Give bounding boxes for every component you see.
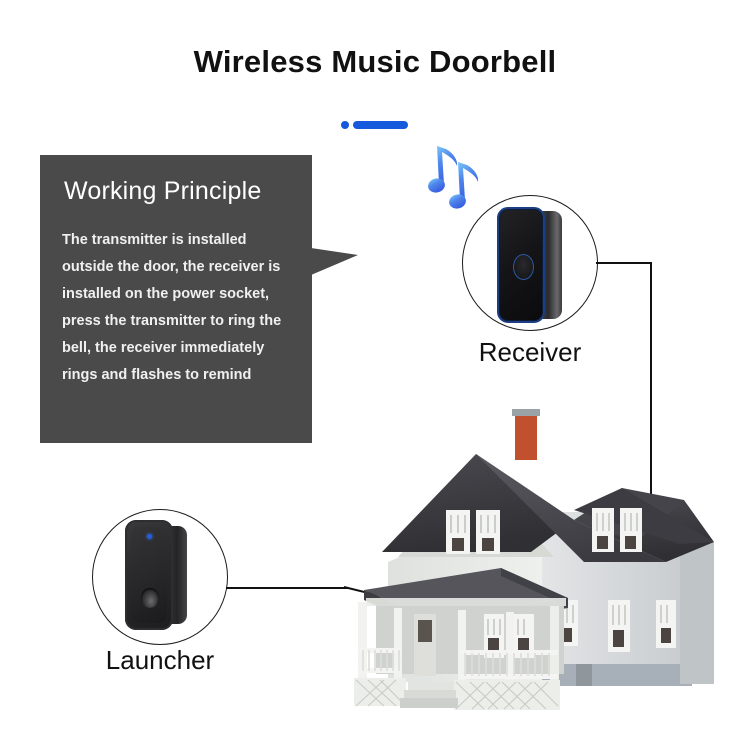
- callout-pointer-tail: [311, 248, 358, 275]
- launcher-button-icon: [141, 588, 159, 608]
- receiver-button-icon: [513, 254, 534, 280]
- callout-heading: Working Principle: [64, 177, 261, 206]
- page-title: Wireless Music Doorbell: [0, 44, 750, 80]
- receiver-leader-line-horizontal: [596, 262, 652, 264]
- receiver-device-image: [489, 207, 574, 322]
- house-illustration: [336, 392, 714, 714]
- signal-dash-icon: [353, 121, 408, 129]
- launcher-device-front: [125, 520, 173, 630]
- launcher-leader-line-horizontal: [226, 587, 348, 589]
- music-notes-icon: [428, 140, 490, 210]
- infographic-canvas: Wireless Music Doorbell Working Principl…: [0, 0, 750, 750]
- launcher-label: Launcher: [70, 645, 250, 676]
- signal-dot-icon: [341, 121, 349, 129]
- callout-body-text: The transmitter is installed outside the…: [62, 227, 300, 389]
- working-principle-callout: Working Principle The transmitter is ins…: [40, 155, 312, 443]
- launcher-device-image: [121, 520, 203, 632]
- receiver-label: Receiver: [440, 337, 620, 368]
- launcher-device-faceplate: [131, 527, 167, 623]
- launcher-led-icon: [147, 534, 152, 539]
- receiver-device-front: [497, 207, 545, 323]
